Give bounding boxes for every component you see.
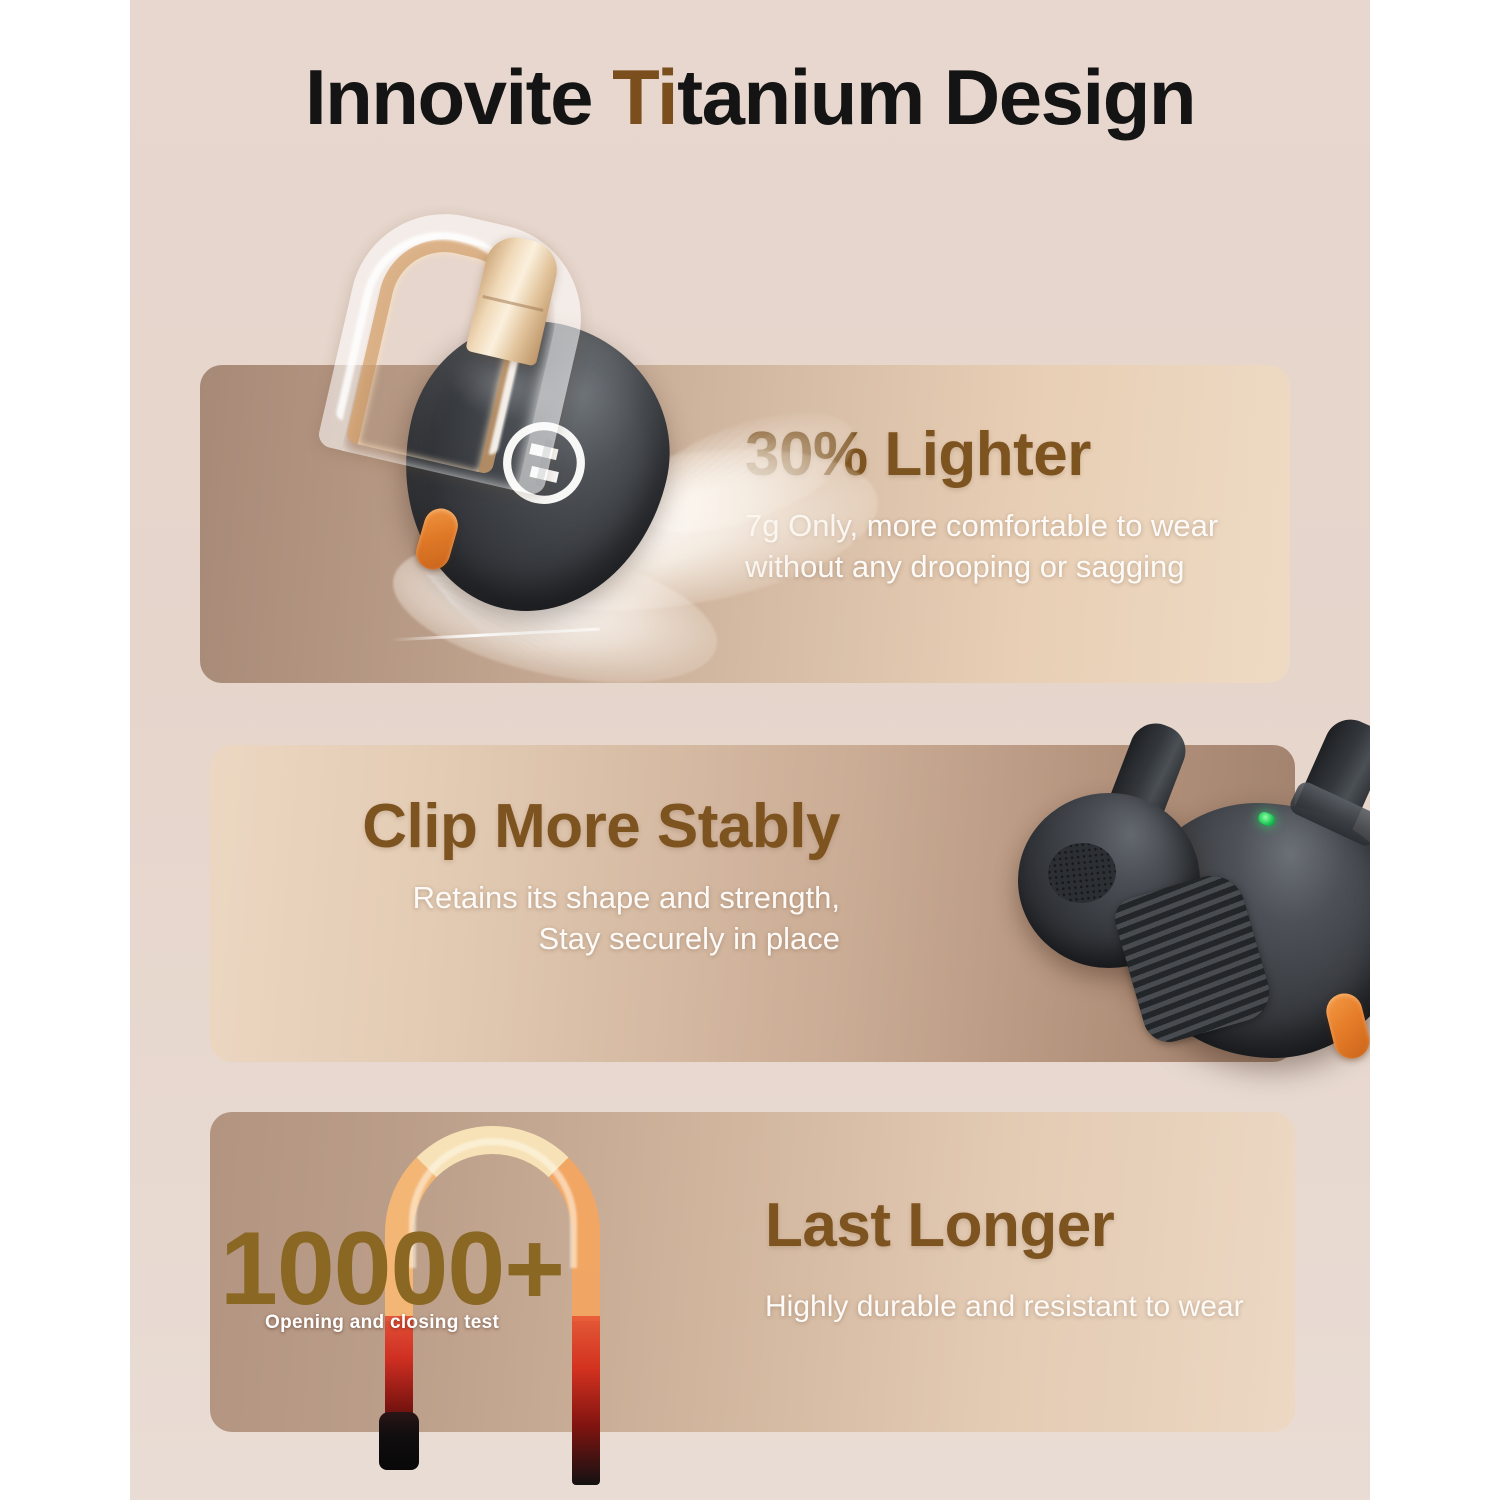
panel-2-text-block: Clip More Stably Retains its shape and s… <box>240 795 840 959</box>
panel-3-subline-line-1: Highly durable and resistant to wear <box>765 1287 1244 1326</box>
panel-3-headline: Last Longer <box>765 1194 1244 1257</box>
panel-2-subline: Retains its shape and strength, Stay sec… <box>240 878 840 959</box>
content-canvas: Innovite Titanium Design 30% Lighter 7g … <box>130 0 1370 1500</box>
panel-2-headline: Clip More Stably <box>240 795 840 858</box>
panel-1-subline-line-1: 7g Only, more comfortable to wear <box>745 506 1218 546</box>
durability-test-caption: Opening and closing test <box>265 1312 499 1334</box>
panel-1-headline: 30% Lighter <box>745 423 1218 486</box>
feature-panel-last-longer: Last Longer Highly durable and resistant… <box>210 1112 1295 1432</box>
panel-2-subline-line-2: Stay securely in place <box>240 919 840 959</box>
panel-3-subline: Highly durable and resistant to wear <box>765 1287 1244 1326</box>
panel-3-text-block: Last Longer Highly durable and resistant… <box>765 1194 1244 1326</box>
earbud-collar <box>1287 779 1370 849</box>
panel-1-subline: 7g Only, more comfortable to wear withou… <box>745 506 1218 587</box>
earhook-gold-ferrule <box>465 231 563 366</box>
panel-2-subline-line-1: Retains its shape and strength, <box>240 878 840 918</box>
earbud-orange-button-2 <box>1323 990 1370 1063</box>
title-text-leading: Innovite <box>305 53 612 141</box>
durability-count-badge: 10000+ <box>220 1217 564 1321</box>
title-text-trailing: tanium Design <box>677 53 1195 141</box>
panel-1-text-block: 30% Lighter 7g Only, more comfortable to… <box>745 423 1218 587</box>
panel-1-subline-line-2: without any drooping or sagging <box>745 547 1218 587</box>
page-title: Innovite Titanium Design <box>130 52 1370 143</box>
product-feature-graphic: Innovite Titanium Design 30% Lighter 7g … <box>0 0 1500 1500</box>
earhook-ferrule-seam <box>483 295 544 311</box>
feature-panel-lighter: 30% Lighter 7g Only, more comfortable to… <box>200 365 1290 683</box>
feature-panel-clip-stably: Clip More Stably Retains its shape and s… <box>210 745 1295 1062</box>
title-accent-ti: Ti <box>612 53 677 141</box>
